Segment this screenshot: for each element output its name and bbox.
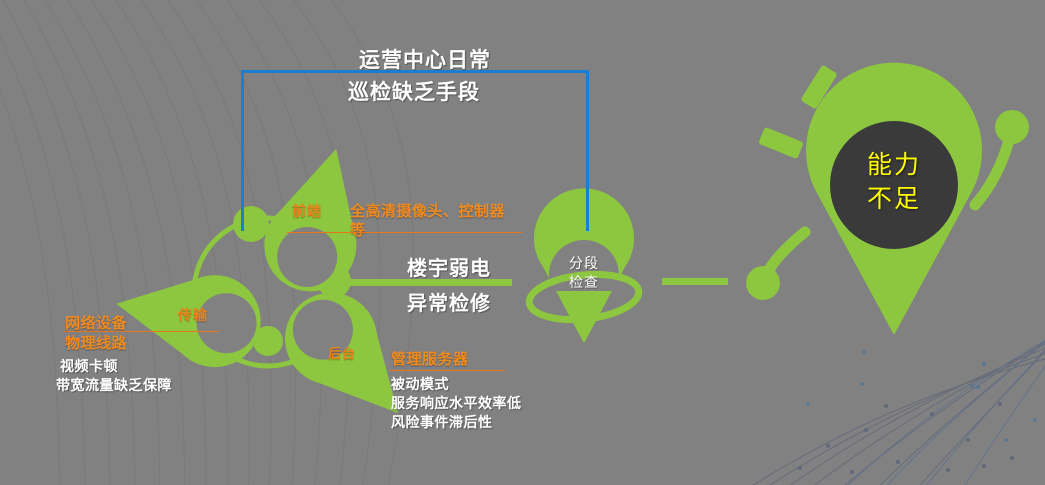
annotation-back-end-body3: 风险事件滞后性 <box>391 413 493 432</box>
segment-check-line2: 检查 <box>544 273 624 292</box>
pin-label-back-end: 后台 <box>328 343 356 362</box>
bracket-title-line1: 运营中心日常 <box>359 44 491 74</box>
pin-label-segment-check: 分段 检查 <box>544 254 624 292</box>
rule-back-end <box>390 370 505 371</box>
connector-bar-right <box>662 278 728 285</box>
annotation-back-end-body2: 服务响应水平效率低 <box>391 394 522 413</box>
pin-label-capability: 能力 不足 <box>834 148 954 216</box>
annotation-front-end-line1: 全高清摄像头、控制器 <box>350 200 505 221</box>
rule-transmission <box>64 331 219 332</box>
pin-label-front-end: 前端 <box>292 201 322 221</box>
center-caption-line2: 异常检修 <box>407 287 491 316</box>
spark-bar-2 <box>758 127 804 159</box>
annotation-transmission-line2: 物理线路 <box>65 332 127 353</box>
annotation-transmission-body1: 视频卡顿 <box>60 357 118 376</box>
annotation-transmission-line1: 网络设备 <box>65 312 127 333</box>
segment-check-line1: 分段 <box>544 254 624 273</box>
rule-front-end <box>287 232 522 233</box>
annotation-back-end-body1: 被动模式 <box>391 375 449 394</box>
bracket-title-line2: 巡检缺乏手段 <box>348 76 480 106</box>
diagram-canvas: 运营中心日常 巡检缺乏手段 前端 全高清摄像头、控制器 等 传输 网络设备 物理… <box>0 0 1045 485</box>
annotation-front-end-line2: 等 <box>350 219 366 240</box>
pin-label-transmission: 传输 <box>178 305 208 325</box>
annotation-back-end-heading: 管理服务器 <box>391 348 469 369</box>
center-caption-line1: 楼宇弱电 <box>407 252 491 281</box>
annotation-transmission-body2: 带宽流量缺乏保障 <box>56 376 172 395</box>
capability-line2: 不足 <box>834 182 954 216</box>
capability-line1: 能力 <box>834 148 954 182</box>
